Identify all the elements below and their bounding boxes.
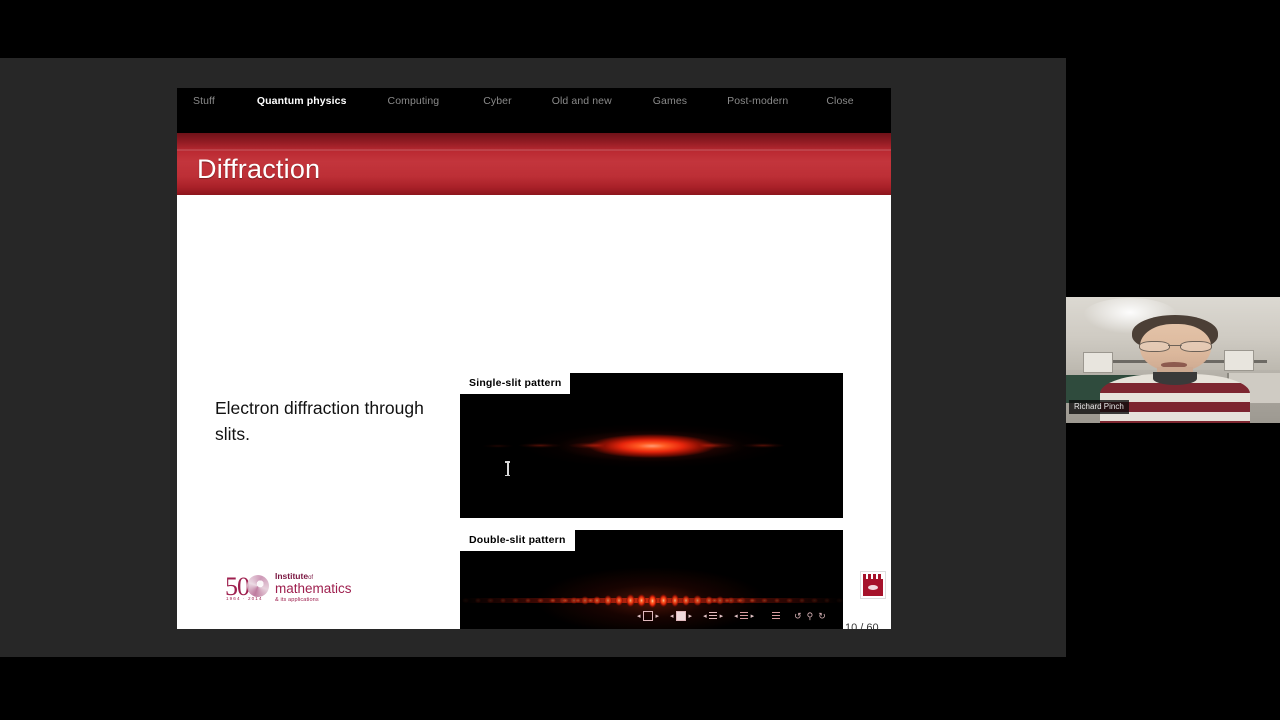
double-slit-fringe [659,594,668,607]
ima-logo-line3: & its applications [275,597,352,603]
diffraction-figure: Single-slit pattern Double-slit pattern [460,373,843,629]
screen: Stuff Quantum physics Computing Cyber Ol… [0,0,1280,720]
beamer-prev-slide-icon[interactable]: ◂ [637,612,641,620]
beamer-subsection-nav[interactable]: ◂ ▸ [703,612,723,620]
participant-name-label: Richard Pinch [1069,400,1129,414]
nav-item-games[interactable]: Games [653,95,687,107]
presentation-slide: Stuff Quantum physics Computing Cyber Ol… [177,88,891,629]
beamer-section-nav[interactable]: ◂ ▸ [734,612,754,620]
nav-item-post-modern[interactable]: Post-modern [727,95,788,107]
double-slit-fringe [559,597,567,603]
slide-body-text: Electron diffraction through slits. [215,395,425,448]
double-slit-fringe [693,595,701,605]
text-cursor [505,461,510,476]
ima-institute-word: Institute [275,571,308,581]
beamer-presentation-icon[interactable] [772,612,780,620]
nav-item-computing[interactable]: Computing [388,95,440,107]
double-slit-fringe-outer [761,598,768,603]
slide-title-banner: Diffraction [177,133,891,195]
nav-item-cyber[interactable]: Cyber [483,95,512,107]
nav-item-quantum-physics[interactable]: Quantum physics [257,95,347,107]
double-slit-fringe-outer [799,598,806,603]
webcam-person-collar [1153,372,1196,385]
double-slit-fringe-outer [786,598,793,603]
double-slit-fringe-outer [711,598,718,603]
beamer-prev-subsection-icon[interactable]: ◂ [703,612,707,620]
single-slit-halo [460,411,843,481]
double-slit-fringe-outer [774,598,781,603]
slide-title: Diffraction [197,154,320,185]
ima-logo-text: Instituteof mathematics & its applicatio… [275,571,352,603]
nav-item-close[interactable]: Close [826,95,853,107]
double-slit-fringe [738,597,746,603]
double-slit-fringe-outer [811,598,818,603]
double-slit-fringe [750,598,757,603]
double-slit-fringe-outer [587,598,594,603]
double-slit-fringe [705,596,713,605]
double-slit-fringe-outer [487,598,494,603]
double-slit-fringe-outer [736,598,743,603]
double-slit-fringe-outer [824,598,831,603]
beamer-frame-nav[interactable]: ◂ ▸ [670,611,692,621]
beamer-forward-icon[interactable]: ↻ [818,611,826,622]
banner-sheen [177,149,891,151]
double-slit-fringe-outer [475,598,482,603]
beamer-misc-nav[interactable]: ↺ ⚲ ↻ [794,611,826,622]
beamer-prev-section-icon[interactable]: ◂ [734,612,738,620]
double-slit-fringe-outer [550,598,557,603]
beamer-slide-nav[interactable]: ◂ ▸ [637,611,659,621]
participant-video-tile[interactable]: Richard Pinch [1066,297,1280,423]
castle-logo-icon [860,571,886,599]
slide-body: Electron diffraction through slits. Sing… [177,195,891,629]
beamer-frame-icon[interactable] [676,611,686,621]
slide-section-navbar: Stuff Quantum physics Computing Cyber Ol… [177,88,891,133]
beamer-subsection-icon[interactable] [709,612,717,620]
double-slit-fringe [581,596,589,604]
double-slit-fringe-outer [512,598,519,603]
double-slit-fringe-outer [562,598,569,603]
screenshare-viewer: Stuff Quantum physics Computing Cyber Ol… [0,58,1066,657]
webcam-person [1126,315,1224,423]
double-slit-fringe [626,594,635,606]
double-slit-fringe-outer [462,598,469,603]
beamer-navigation-symbols[interactable]: ◂ ▸ ◂ ▸ ◂ ▸ ◂ [637,609,877,623]
beamer-next-section-icon[interactable]: ▸ [751,612,755,620]
beamer-next-subsection-icon[interactable]: ▸ [720,612,724,620]
ima-swirl-icon [247,575,269,597]
single-slit-lobe-right-1 [673,442,735,449]
double-slit-fringe [593,596,601,605]
double-slit-fringe [648,594,657,608]
single-slit-lobe-left-2 [518,443,562,448]
ima-logo-years: 1964 · 2014 [226,596,263,601]
nav-item-old-and-new[interactable]: Old and new [552,95,612,107]
beamer-next-slide-icon[interactable]: ▸ [656,612,660,620]
nav-item-stuff[interactable]: Stuff [193,95,215,107]
double-slit-fringe [615,595,623,606]
double-slit-fringe [604,595,612,605]
beamer-slide-icon[interactable] [643,611,653,621]
double-slit-fringe [570,597,578,604]
double-slit-fringe [548,598,555,603]
glasses-lens-right [1180,341,1211,353]
ima-logo-line1: Instituteof [275,571,352,581]
double-slit-fringe [682,595,690,606]
double-slit-fringe-outer [724,598,731,603]
double-slit-streak [464,598,839,603]
slide-section-nav-items: Stuff Quantum physics Computing Cyber Ol… [177,88,891,133]
beamer-back-icon[interactable]: ↺ [794,611,802,622]
ima-logo: 50 1964 · 2014 Instituteof mathematics &… [225,570,357,604]
beamer-prev-frame-icon[interactable]: ◂ [670,612,674,620]
glasses-lens-left [1139,341,1170,353]
slide-page-indicator: 10 / 60 [845,622,879,629]
single-slit-panel: Single-slit pattern [460,373,843,518]
double-slit-fringe-outer [525,598,532,603]
beamer-next-frame-icon[interactable]: ▸ [689,612,693,620]
single-slit-central-maximum [588,433,716,459]
double-slit-fringe-outer [575,598,582,603]
castle-logo-shape [863,574,883,596]
double-slit-fringe [716,596,724,604]
double-slit-fringe [671,594,680,606]
single-slit-lobe-right-2 [741,443,785,448]
single-slit-lobe-left-3 [482,444,514,448]
ima-logo-line2: mathematics [275,582,352,596]
double-slit-fringe [727,597,735,604]
glasses-icon [1139,341,1212,351]
single-slit-lobe-left-1 [568,442,630,449]
text-cursor-stem [507,461,509,476]
double-slit-fringe [637,594,646,607]
double-slit-fringe-outer [500,598,507,603]
double-slit-fringe-outer [537,598,544,603]
double-slit-fringe-outer [749,598,756,603]
double-slit-fringe-outer [836,598,843,603]
single-slit-label: Single-slit pattern [460,373,570,394]
double-slit-label: Double-slit pattern [460,530,575,551]
webcam-speaker-right [1224,350,1254,371]
beamer-search-icon[interactable]: ⚲ [807,611,814,622]
beamer-section-icon[interactable] [740,612,748,620]
figure-panel-divider [460,518,843,530]
webcam-speaker-left [1083,352,1113,373]
